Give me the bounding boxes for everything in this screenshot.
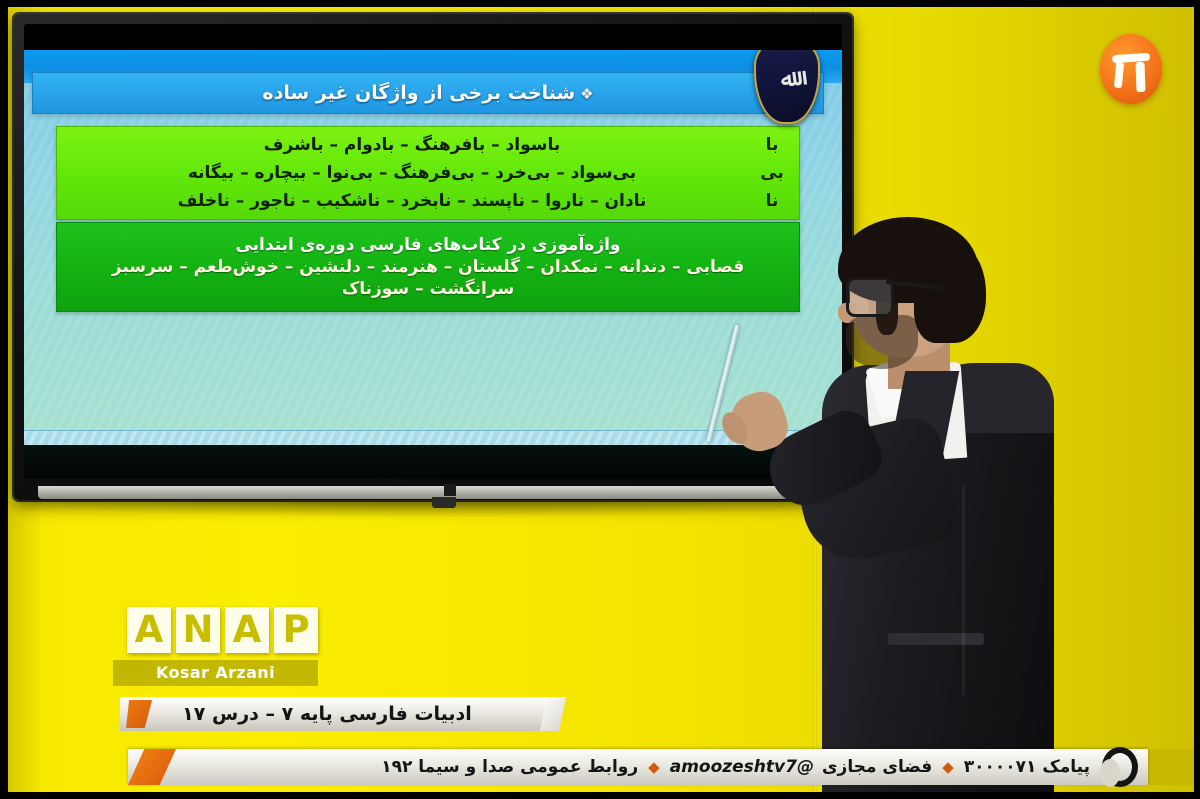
channel-logo-leg-right <box>1135 62 1145 92</box>
pana-letter: A <box>127 607 171 653</box>
letterbox-top <box>0 0 1200 7</box>
channel-logo-icon <box>1100 34 1162 104</box>
pana-letters: P A N A <box>108 607 318 653</box>
broadcast-ticker: پیامک ۳۰۰۰۰۷۱ ◆ فضای مجازی @amoozeshtv7 … <box>128 749 1148 785</box>
ministry-emblem: ﷲ <box>758 50 820 124</box>
ticker-separator-icon: ◆ <box>942 758 954 776</box>
slide-title: ❖شناخت برخی از واژگان غیر ساده <box>262 82 593 104</box>
presenter-jacket-seam <box>962 485 965 695</box>
screen-top-letterbox <box>24 24 842 50</box>
ticker-segment-sms: پیامک ۳۰۰۰۰۷۱ <box>964 757 1090 777</box>
presenter-jacket-pocket <box>888 633 984 645</box>
ticker-segment-social-handle: @amoozeshtv7 <box>670 757 814 777</box>
letterbox-right <box>1194 0 1200 799</box>
ticker-segment-pr: روابط عمومی صدا و سیما ۱۹۲ <box>381 757 638 777</box>
ticker-logo-crescent <box>1100 759 1120 787</box>
letterbox-left <box>0 0 8 799</box>
prefix-key: بی <box>755 163 789 183</box>
prefix-words: بی‌سواد – بی‌خرد – بی‌فرهنگ – بی‌نوا – ب… <box>69 163 755 183</box>
bullet-icon: ❖ <box>580 85 593 103</box>
prefix-table-box: با باسواد – بافرهنگ – بادوام – باشرف بی … <box>56 126 800 220</box>
examples-line-2: سرانگشت – سوزناک <box>57 278 799 300</box>
table-row: نا نادان – ناروا – ناپسند – نابخرد – ناش… <box>57 187 799 215</box>
pana-letter: N <box>176 607 220 653</box>
table-row: با باسواد – بافرهنگ – بادوام – باشرف <box>57 131 799 159</box>
presenter-name-label: Kosar Arzani <box>113 660 318 686</box>
slide-title-bar: ❖شناخت برخی از واژگان غیر ساده <box>32 72 824 114</box>
channel-logo-oval <box>1100 34 1162 104</box>
pana-letter: A <box>225 607 269 653</box>
broadcast-frame: ❖شناخت برخی از واژگان غیر ساده ﷲ با <box>0 0 1200 799</box>
examples-heading: واژه‌آموزی در کتاب‌های فارسی دوره‌ی ابتد… <box>57 234 799 256</box>
pana-watermark: P A N A Kosar Arzani <box>108 607 318 687</box>
tv-stand-center-block <box>444 484 456 496</box>
lesson-title-text: ادبیات فارسی پایه ۷ – درس ۱۷ <box>182 703 498 725</box>
prefix-words: باسواد – بافرهنگ – بادوام – باشرف <box>69 135 755 155</box>
prefix-words: نادان – ناروا – ناپسند – نابخرد – ناشکیب… <box>69 191 755 211</box>
slide-title-text: شناخت برخی از واژگان غیر ساده <box>262 82 575 104</box>
emblem-shield: ﷲ <box>754 50 820 124</box>
ticker-segment-social-label: فضای مجازی <box>822 757 932 777</box>
pana-letter: P <box>274 607 318 653</box>
lesson-title-banner: ادبیات فارسی پایه ۷ – درس ۱۷ <box>120 697 560 731</box>
table-row: بی بی‌سواد – بی‌خرد – بی‌فرهنگ – بی‌نوا … <box>57 159 799 187</box>
emblem-calligraphy: ﷲ <box>779 68 794 91</box>
examples-line-1: قصابی – دندانه – نمکدان – گلستان – هنرمن… <box>57 256 799 278</box>
prefix-key: با <box>755 135 789 155</box>
presenter-hair-back <box>914 239 986 343</box>
tv-stand-foot <box>432 497 456 508</box>
irib-ticker-logo-icon <box>1096 747 1138 787</box>
ticker-end-cap <box>1144 749 1200 785</box>
ticker-separator-icon: ◆ <box>648 758 660 776</box>
examples-box: واژه‌آموزی در کتاب‌های فارسی دوره‌ی ابتد… <box>56 222 800 312</box>
letterbox-bottom <box>0 792 1200 799</box>
ticker-logo-ring <box>1102 747 1138 787</box>
presenter-figure <box>718 215 1068 799</box>
channel-logo-leg-left <box>1114 62 1124 89</box>
prefix-key: نا <box>755 191 789 211</box>
